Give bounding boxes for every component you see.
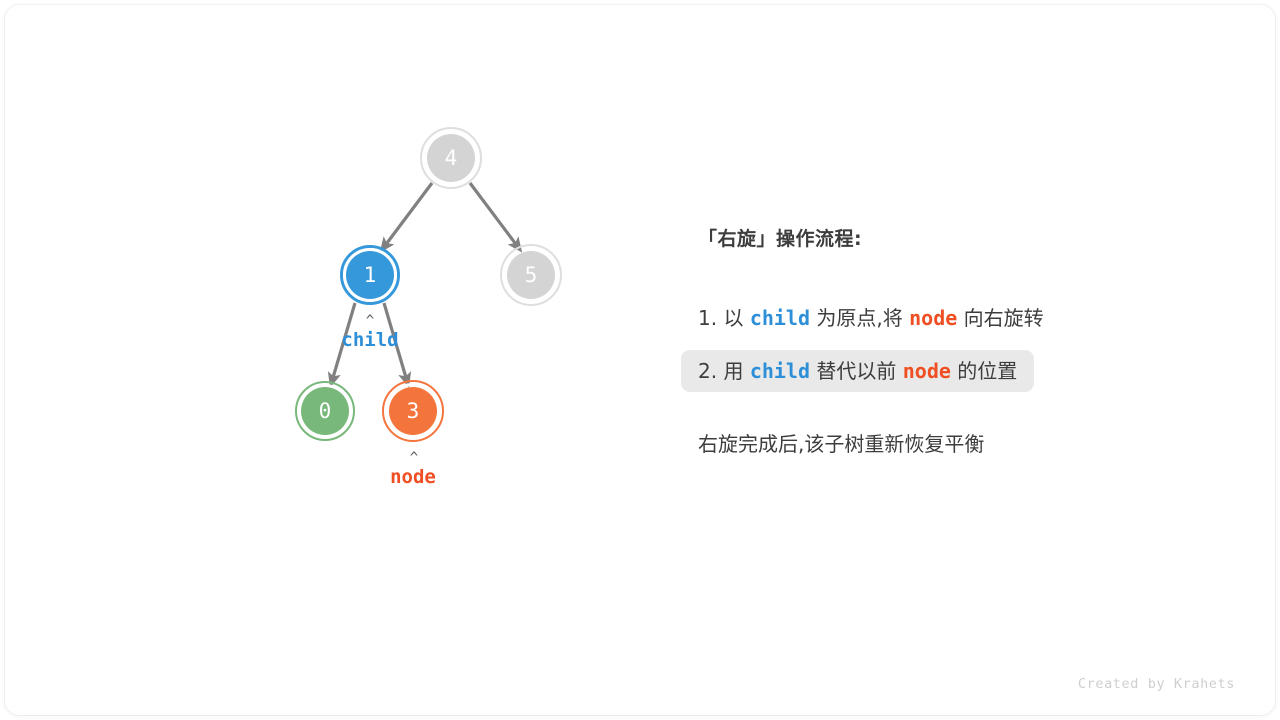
node-3[interactable]: 3 [389,387,437,435]
step-2-index: 2. [698,359,717,383]
step-1-row: 1. 以 child 为原点,将 node 向右旋转 [698,297,1218,350]
conclusion-text: 右旋完成后,该子树重新恢复平衡 [698,428,1218,457]
step-1-node-token: node [909,306,957,330]
step-1-text-c: 向右旋转 [964,306,1044,330]
child-pointer-caret: ^ [345,313,395,329]
step-1-index: 1. [698,306,717,330]
node-5[interactable]: 5 [507,251,555,299]
node-pointer-caret: ^ [389,450,439,466]
node-pointer-label: node [353,466,473,488]
step-2-child-token: child [750,359,810,383]
node-1[interactable]: 1 [346,251,394,299]
node-0-label: 0 [319,399,332,423]
panel-title: 「右旋」操作流程: [698,224,1218,251]
node-4-label: 4 [445,146,458,170]
node-5-label: 5 [525,263,538,287]
node-0[interactable]: 0 [301,387,349,435]
node-4[interactable]: 4 [427,134,475,182]
step-1-child-token: child [750,306,810,330]
step-1[interactable]: 1. 以 child 为原点,将 node 向右旋转 [681,297,1061,339]
step-2-node-token: node [903,359,951,383]
step-1-text-a: 以 [723,306,743,330]
step-2-text-c: 的位置 [957,359,1017,383]
step-2[interactable]: 2. 用 child 替代以前 node 的位置 [681,350,1034,392]
step-2-text-a: 用 [723,359,743,383]
step-1-text-b: 为原点,将 [816,306,902,330]
footer-credit: Created by Krahets [1078,676,1235,692]
step-2-row: 2. 用 child 替代以前 node 的位置 [698,350,1218,403]
step-2-text-b: 替代以前 [816,359,896,383]
node-3-label: 3 [407,399,420,423]
screenshot-canvas: 4 1 5 0 3 ^ child ^ node 「右旋」操作流程: 1. 以 … [0,0,1280,720]
child-pointer-label: child [310,329,430,351]
node-1-label: 1 [364,263,377,287]
explanation-panel: 「右旋」操作流程: 1. 以 child 为原点,将 node 向右旋转 2. … [698,224,1218,457]
